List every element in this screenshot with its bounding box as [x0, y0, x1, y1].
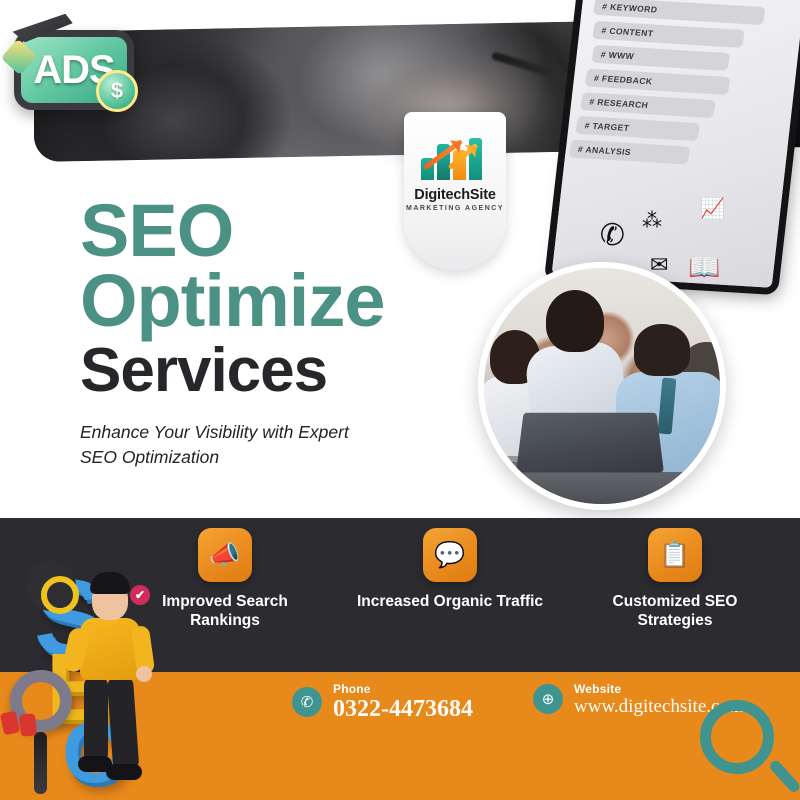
person-hair: [546, 290, 604, 352]
contact-list: ✆ Phone 0322-4473684 ⊕ Website www.digit…: [292, 682, 744, 722]
contact-phone[interactable]: ✆ Phone 0322-4473684: [292, 682, 473, 722]
contact-label: Website: [574, 682, 744, 696]
character-body: [80, 618, 140, 680]
headline-block: SEO Optimize Services Enhance Your Visib…: [80, 196, 500, 470]
laptop: [516, 413, 664, 473]
chart-icon: 📈: [700, 196, 725, 221]
tablet-device: # KEYWORD # CONTENT # WWW # FEEDBACK # R…: [552, 0, 800, 288]
feature-item: 💬 Increased Organic Traffic: [355, 528, 545, 672]
globe-icon: ⊕: [533, 684, 563, 714]
headline-subtitle: Enhance Your Visibility with Expert SEO …: [80, 420, 390, 470]
headline-line-1: SEO: [80, 196, 500, 266]
check-badge-icon: ✔: [130, 585, 150, 605]
feature-label: Customized SEO Strategies: [580, 593, 770, 631]
keyword-chip: # WWW: [591, 45, 730, 71]
contact-label: Phone: [333, 682, 473, 696]
keyword-chip: # TARGET: [575, 116, 700, 141]
character-shoe: [106, 764, 142, 780]
hashtag-engagement-icon: 💬: [423, 528, 477, 582]
gear-icon: [30, 565, 72, 607]
keyword-chip-list: # KEYWORD # CONTENT # WWW # FEEDBACK # R…: [576, 0, 765, 174]
growth-chart-icon: [419, 126, 491, 180]
magnifier-decoration-icon: [700, 700, 774, 774]
seo-services-poster: # KEYWORD # CONTENT # WWW # FEEDBACK # R…: [0, 0, 800, 800]
keyword-chip: # ANALYSIS: [569, 139, 691, 164]
phone-icon: ✆: [598, 217, 627, 254]
keyword-chip: # FEEDBACK: [585, 68, 731, 95]
keyword-chip: # CONTENT: [592, 21, 745, 48]
contact-value[interactable]: 0322-4473684: [333, 697, 473, 722]
feature-item: 📋 Customized SEO Strategies: [580, 528, 770, 672]
phone-icon: ✆: [292, 687, 322, 717]
keyword-chip: # RESEARCH: [580, 92, 716, 118]
feature-label: Increased Organic Traffic: [357, 593, 543, 612]
feature-list: 📣 Improved Search Rankings 💬 Increased O…: [130, 528, 770, 672]
character-leg: [84, 676, 108, 760]
dollar-coin-icon: $: [96, 70, 138, 112]
character-hair: [90, 572, 130, 594]
headline-line-3: Services: [80, 339, 500, 402]
character-illustration: S E O: [0, 540, 160, 800]
book-icon: 📖: [688, 252, 720, 283]
character-leg: [107, 675, 139, 769]
headline-line-2: Optimize: [80, 266, 500, 336]
clipboard-strategy-icon: 📋: [648, 528, 702, 582]
deco-block: [19, 713, 37, 737]
person-hair: [634, 324, 690, 376]
magnifier-handle: [34, 732, 47, 794]
character-hand: [136, 666, 152, 682]
team-photo: [478, 262, 726, 510]
network-icon: ⁂: [642, 208, 662, 233]
megaphone-marketing-icon: 📣: [198, 528, 252, 582]
